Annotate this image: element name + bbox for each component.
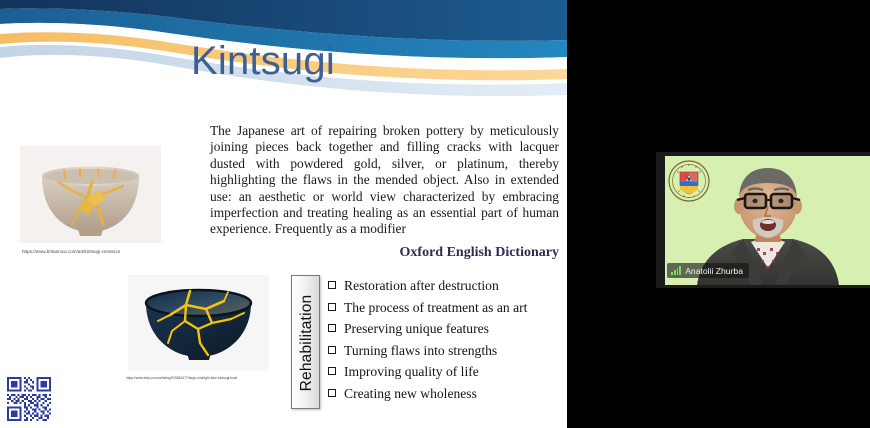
list-item: Improving quality of life xyxy=(328,364,558,386)
participant-name-badge: Anatolii Zhurba xyxy=(667,263,749,278)
list-item: Preserving unique features xyxy=(328,321,558,343)
list-item-label: Turning flaws into strengths xyxy=(344,343,497,359)
rehabilitation-label-box: Rehabilitation xyxy=(291,275,320,409)
organization-crest-logo xyxy=(668,160,710,202)
signal-bars-icon xyxy=(671,266,681,275)
qr-code xyxy=(7,377,51,421)
definition-attribution: Oxford English Dictionary xyxy=(210,245,559,261)
page-title: Kintsugi xyxy=(191,41,335,81)
participant-video-tile[interactable]: Anatolii Zhurba xyxy=(656,152,870,288)
list-item-label: Restoration after destruction xyxy=(344,278,499,294)
list-item: The process of treatment as an art xyxy=(328,300,558,322)
image-caption-britannica: https://www.britannica.com/art/kintsugi-… xyxy=(22,249,120,254)
participant-name: Anatolii Zhurba xyxy=(685,266,743,276)
rehabilitation-bullet-list: Restoration after destruction The proces… xyxy=(328,278,558,408)
checkbox-bullet-icon xyxy=(328,303,336,311)
meeting-screen: Kintsugi The Japanese art of repairing b… xyxy=(0,0,870,428)
shared-slide: Kintsugi The Japanese art of repairing b… xyxy=(0,0,567,428)
tan-kintsugi-bowl-image xyxy=(20,146,161,243)
checkbox-bullet-icon xyxy=(328,324,336,332)
rehabilitation-label: Rehabilitation xyxy=(292,276,321,410)
list-item-label: The process of treatment as an art xyxy=(344,300,527,316)
checkbox-bullet-icon xyxy=(328,346,336,354)
list-item: Restoration after destruction xyxy=(328,278,558,300)
list-item-label: Preserving unique features xyxy=(344,321,489,337)
midnight-blue-kintsugi-bowl-image xyxy=(128,275,269,371)
list-item: Creating new wholeness xyxy=(328,386,558,408)
image-caption-etsy: https://www.etsy.com/ca/listing/92986247… xyxy=(126,376,237,380)
checkbox-bullet-icon xyxy=(328,281,336,289)
checkbox-bullet-icon xyxy=(328,367,336,375)
definition-text: The Japanese art of repairing broken pot… xyxy=(210,123,559,238)
list-item-label: Improving quality of life xyxy=(344,364,479,380)
list-item-label: Creating new wholeness xyxy=(344,386,477,402)
checkbox-bullet-icon xyxy=(328,389,336,397)
list-item: Turning flaws into strengths xyxy=(328,343,558,365)
